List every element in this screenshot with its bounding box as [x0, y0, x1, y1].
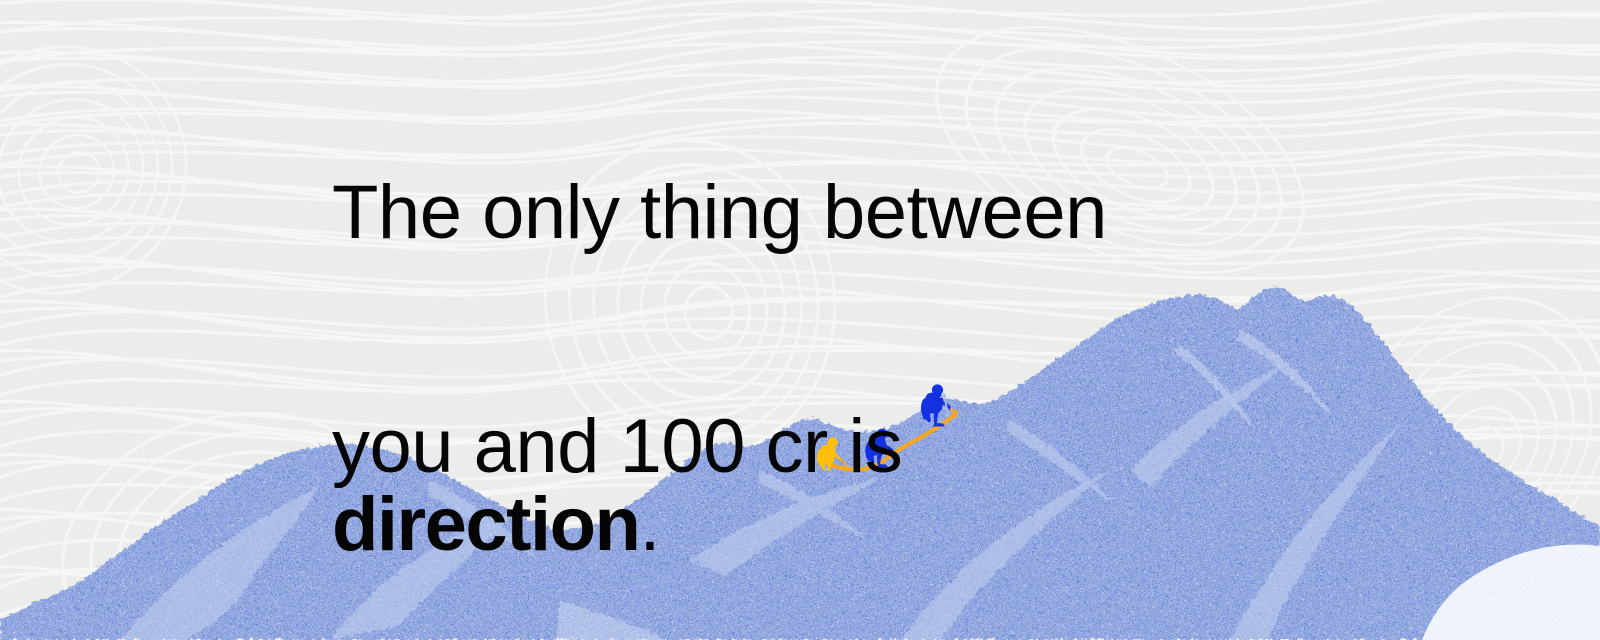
headline-emphasis: direction: [332, 482, 639, 567]
headline-line-1: The only thing between: [332, 174, 1232, 252]
headline-line-2-prefix: you and 100 cr is: [332, 404, 902, 489]
headline-line-2: you and 100 cr is direction.: [332, 330, 1232, 564]
hero-banner: The only thing between you and 100 cr is…: [0, 0, 1600, 640]
headline-period: .: [639, 482, 660, 567]
hero-content: The only thing between you and 100 cr is…: [332, 96, 1232, 640]
page-title: The only thing between you and 100 cr is…: [332, 96, 1232, 640]
